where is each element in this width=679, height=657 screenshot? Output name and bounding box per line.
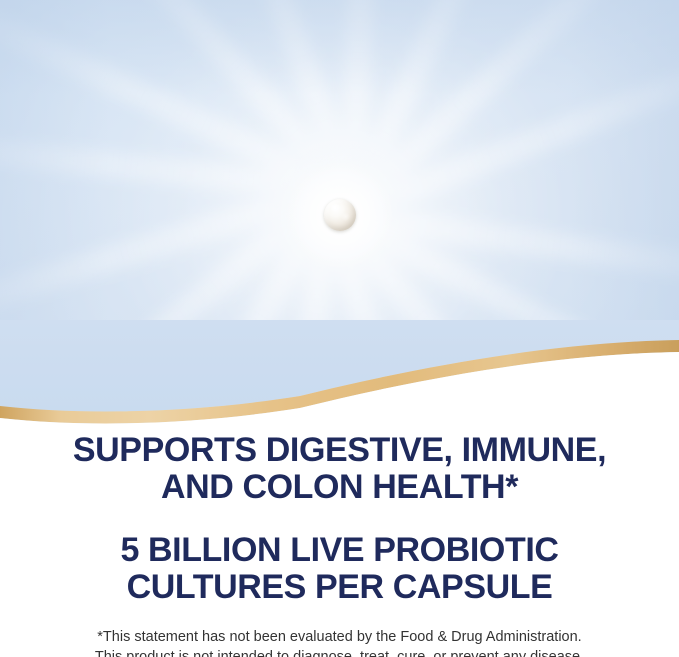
pearl-secondary-highlight-icon [341, 212, 350, 221]
headline-primary: SUPPORTS DIGESTIVE, IMMUNE, AND COLON HE… [0, 432, 679, 506]
headline-secondary-line-2: CULTURES PER CAPSULE [24, 569, 655, 606]
headline-primary-line-2: AND COLON HEALTH* [24, 469, 655, 506]
headline-secondary: 5 BILLION LIVE PROBIOTIC CULTURES PER CA… [0, 532, 679, 606]
pearl-capsule-icon [324, 199, 356, 231]
copy-block: SUPPORTS DIGESTIVE, IMMUNE, AND COLON HE… [0, 432, 679, 657]
gold-wave-divider-icon [0, 320, 679, 440]
pearl-highlight-icon [331, 204, 341, 212]
fda-disclaimer-line-1: *This statement has not been evaluated b… [24, 628, 655, 648]
product-benefit-panel: SUPPORTS DIGESTIVE, IMMUNE, AND COLON HE… [0, 0, 679, 657]
fda-disclaimer: *This statement has not been evaluated b… [0, 628, 679, 657]
fda-disclaimer-line-2: This product is not intended to diagnose… [24, 648, 655, 657]
headline-secondary-line-1: 5 BILLION LIVE PROBIOTIC [24, 532, 655, 569]
headline-primary-line-1: SUPPORTS DIGESTIVE, IMMUNE, [24, 432, 655, 469]
